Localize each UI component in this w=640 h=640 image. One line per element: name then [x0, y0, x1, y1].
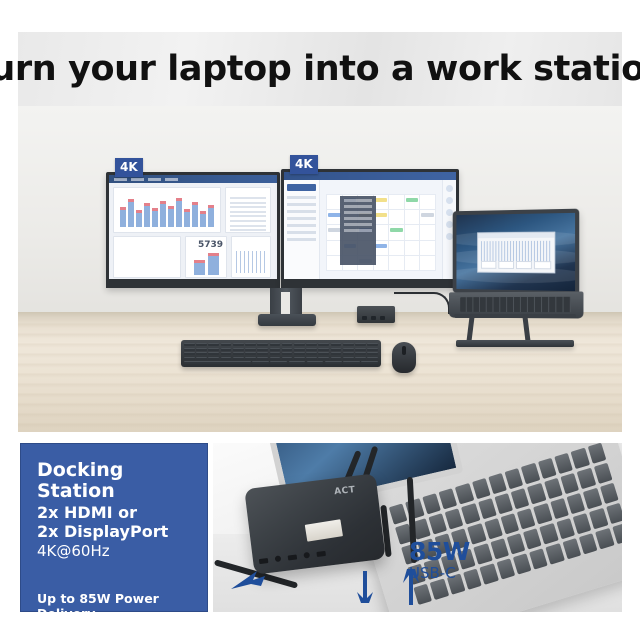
key	[494, 493, 513, 514]
overlay-row	[344, 211, 372, 214]
key	[294, 352, 305, 355]
bar	[128, 202, 134, 227]
bar	[176, 201, 182, 227]
calendar-event	[375, 244, 388, 248]
key	[306, 357, 317, 360]
monitor-right-screen	[284, 172, 456, 279]
key	[533, 503, 552, 524]
key	[595, 528, 614, 549]
spec-panel: Docking Station 2x HDMI or 2x DisplayPor…	[20, 443, 208, 612]
sidebar-item	[287, 231, 316, 234]
key	[587, 443, 606, 464]
calendar-main	[320, 180, 442, 279]
hero-photo-workstation: 5739	[18, 106, 622, 432]
toolbar-item	[165, 178, 178, 181]
key	[221, 357, 232, 360]
page-title: Turn your laptop into a work station	[0, 49, 640, 89]
overlay-row	[344, 199, 372, 202]
key	[294, 357, 305, 360]
monitor-stand-gap	[281, 292, 290, 314]
key	[270, 361, 287, 364]
key	[184, 343, 195, 346]
key	[367, 348, 378, 351]
key	[355, 348, 366, 351]
calendar-cell	[405, 225, 420, 239]
overlay-row	[344, 229, 372, 232]
monitor-right	[281, 169, 459, 288]
calendar-app	[284, 172, 456, 279]
keyboard-row	[184, 361, 378, 364]
key	[507, 533, 526, 554]
key	[233, 357, 244, 360]
key	[331, 357, 342, 360]
key	[208, 352, 219, 355]
bar	[144, 206, 150, 227]
key	[554, 453, 573, 474]
bar	[168, 209, 174, 227]
toolbar-item	[131, 178, 144, 181]
key	[579, 533, 598, 554]
sidebar-item	[287, 210, 316, 213]
key	[538, 458, 557, 479]
key	[517, 508, 536, 529]
calendar-event	[375, 198, 388, 202]
key	[318, 343, 329, 346]
key	[562, 538, 581, 559]
usb-port-icon	[316, 550, 326, 556]
laptop-screen-assembly	[453, 209, 580, 296]
key	[318, 357, 329, 360]
key	[221, 352, 232, 355]
bar	[192, 205, 198, 227]
mini-bar	[208, 253, 219, 275]
dashboard-body: 5739	[109, 183, 277, 273]
keyboard-row	[184, 357, 378, 360]
key	[343, 343, 354, 346]
list-row	[230, 202, 266, 204]
sidebar-item	[287, 217, 316, 220]
key	[343, 348, 354, 351]
calendar-cell	[389, 225, 404, 239]
4k-badge-right-monitor: 4K	[290, 155, 318, 174]
key	[196, 348, 207, 351]
key	[445, 508, 464, 529]
sidebar-item	[287, 224, 316, 227]
keyboard	[181, 340, 381, 367]
key	[461, 503, 480, 524]
key	[318, 348, 329, 351]
bar	[200, 214, 206, 227]
rail-icon	[446, 197, 453, 204]
key	[257, 343, 268, 346]
monitor-left-screen: 5739	[109, 175, 277, 279]
key	[567, 493, 586, 514]
dock-port	[380, 316, 385, 320]
key	[196, 357, 207, 360]
dock-cable	[394, 292, 450, 314]
spec-title: Docking Station	[37, 460, 193, 503]
key	[600, 483, 619, 504]
window-titlebar	[478, 233, 554, 239]
key	[589, 508, 608, 529]
key	[560, 473, 579, 494]
bar	[136, 213, 142, 227]
key	[257, 348, 268, 351]
calendar-event	[328, 213, 341, 217]
toolbar-item	[114, 178, 127, 181]
key	[496, 558, 515, 579]
list-row	[230, 229, 266, 231]
calendar-cell	[389, 195, 404, 209]
card-kpi: 5739	[185, 236, 227, 278]
key	[484, 518, 503, 539]
key	[472, 478, 491, 499]
key	[478, 498, 497, 519]
key	[389, 503, 408, 524]
key	[282, 357, 293, 360]
key	[550, 498, 569, 519]
key	[527, 483, 546, 504]
calendar-cell	[389, 241, 404, 255]
key	[270, 352, 281, 355]
key	[294, 343, 305, 346]
key	[488, 473, 507, 494]
key	[438, 488, 457, 509]
key	[343, 352, 354, 355]
calendar-event	[328, 228, 341, 232]
key	[606, 503, 622, 524]
card-donut-chart	[113, 236, 181, 278]
riser-leg	[466, 316, 474, 342]
key	[546, 543, 565, 564]
calendar-cell	[389, 256, 404, 270]
calendar-cell	[405, 256, 420, 270]
keyboard-row	[184, 348, 378, 351]
sidebar-item	[287, 203, 316, 206]
bar	[152, 211, 158, 227]
line-chart	[236, 251, 266, 273]
list-row	[230, 225, 266, 227]
list-row	[230, 211, 266, 213]
sidebar-primary-button	[287, 184, 316, 191]
audio-port-icon	[275, 555, 282, 562]
key	[289, 361, 306, 364]
key	[500, 513, 519, 534]
list-row	[230, 206, 266, 208]
calendar-sidebar	[284, 180, 320, 279]
key	[505, 468, 524, 489]
docking-station-closeup: ACT	[244, 473, 385, 574]
key	[196, 352, 207, 355]
power-callout: 85W USB-C	[409, 539, 470, 584]
sidebar-item	[287, 238, 316, 241]
key	[413, 584, 432, 605]
stat-cell	[516, 261, 532, 269]
spec-line-hdmi: 2x HDMI or	[37, 503, 193, 522]
key	[306, 348, 317, 351]
calendar-event	[375, 213, 388, 217]
card-line-chart	[231, 236, 271, 278]
key	[325, 361, 342, 364]
key	[544, 478, 563, 499]
toolbar-item	[148, 178, 161, 181]
key	[367, 352, 378, 355]
key	[257, 357, 268, 360]
rail-icon	[446, 185, 453, 192]
key	[513, 553, 532, 574]
list-row	[230, 220, 266, 222]
key	[355, 352, 366, 355]
spec-line-resolution: 4K@60Hz	[37, 541, 193, 563]
key	[306, 343, 317, 346]
monitor-right-bezel-bottom	[281, 279, 459, 288]
key	[208, 357, 219, 360]
key	[270, 348, 281, 351]
bar	[208, 208, 214, 227]
key	[282, 352, 293, 355]
laptop-keyboard	[460, 297, 571, 312]
4k-badge-left-monitor: 4K	[115, 158, 143, 177]
calendar-cell	[420, 256, 435, 270]
calendar-cell	[405, 195, 420, 209]
key	[221, 343, 232, 346]
laptop-riser-stand	[454, 314, 576, 344]
monitor-left: 5739	[106, 172, 280, 288]
docking-station-on-desk	[357, 306, 395, 323]
dashboard-app: 5739	[109, 175, 277, 279]
keyboard-row	[184, 352, 378, 355]
usb-port-icon	[288, 554, 298, 560]
key	[307, 361, 324, 364]
calendar-cell	[420, 225, 435, 239]
key	[270, 357, 281, 360]
hdmi-port-icon	[259, 558, 269, 564]
key	[428, 513, 447, 534]
riser-leg	[522, 316, 530, 342]
key	[257, 352, 268, 355]
calendar-detail-overlay	[340, 196, 376, 265]
calendar-cell	[420, 241, 435, 255]
key	[367, 343, 378, 346]
dock-port	[362, 316, 367, 320]
key	[355, 343, 366, 346]
key	[571, 448, 590, 469]
card-list	[225, 187, 271, 233]
key	[583, 488, 602, 509]
calendar-event	[390, 228, 403, 232]
key	[473, 543, 492, 564]
key	[540, 523, 559, 544]
key	[577, 468, 596, 489]
dock-port	[371, 316, 376, 320]
bar	[184, 212, 190, 227]
key	[184, 361, 251, 364]
key	[331, 343, 342, 346]
stat-cell	[498, 261, 514, 269]
power-connector-type: USB-C	[409, 564, 470, 584]
key	[331, 352, 342, 355]
calendar-cell	[420, 195, 435, 209]
window-line-chart	[481, 241, 551, 263]
key	[490, 538, 509, 559]
list-row	[230, 197, 266, 199]
bar	[120, 210, 126, 227]
key	[196, 343, 207, 346]
power-value: 85W	[409, 539, 470, 564]
key	[233, 343, 244, 346]
key	[184, 352, 195, 355]
key	[367, 357, 378, 360]
key	[455, 483, 474, 504]
bar-chart	[120, 197, 214, 227]
key	[184, 348, 195, 351]
key	[511, 488, 530, 509]
act-brand-logo: ACT	[334, 485, 356, 497]
key	[556, 518, 575, 539]
monitor-stand-base	[258, 314, 316, 326]
window-stat-cells	[481, 261, 551, 269]
calendar-cell	[405, 241, 420, 255]
closeup-photo-docking-station: ACT 85W USB-C	[213, 443, 622, 612]
key	[282, 348, 293, 351]
calendar-event	[406, 198, 419, 202]
spec-power-delivery: Up to 85W Power Delivery	[37, 591, 193, 621]
calendar-cell	[405, 210, 420, 224]
product-marketing-image: Turn your laptop into a work station	[0, 0, 640, 640]
key	[245, 357, 256, 360]
monitor-left-bezel-bottom	[106, 279, 280, 288]
overlay-row	[344, 223, 372, 226]
key	[245, 352, 256, 355]
key	[331, 348, 342, 351]
headline-band: Turn your laptop into a work station	[18, 32, 622, 106]
key	[521, 463, 540, 484]
key	[306, 352, 317, 355]
key	[270, 343, 281, 346]
stat-cell	[534, 261, 551, 269]
overlay-row	[344, 205, 372, 208]
key	[573, 513, 592, 534]
key	[245, 348, 256, 351]
calendar-event	[421, 213, 434, 217]
kpi-value: 5739	[189, 240, 223, 250]
key	[422, 493, 441, 514]
key	[282, 343, 293, 346]
bar	[160, 204, 166, 227]
key	[318, 352, 329, 355]
key	[594, 463, 613, 484]
key	[529, 548, 548, 569]
keyboard-row	[184, 343, 378, 346]
calendar-cell	[420, 210, 435, 224]
key	[208, 343, 219, 346]
dock-port-row	[259, 550, 326, 564]
key	[233, 352, 244, 355]
key	[252, 361, 269, 364]
key	[208, 348, 219, 351]
spec-line-displayport: 2x DisplayPort	[37, 522, 193, 541]
key	[361, 361, 378, 364]
calendar-cell	[389, 210, 404, 224]
sidebar-item	[287, 196, 316, 199]
key	[523, 528, 542, 549]
key	[480, 563, 499, 584]
key	[184, 357, 195, 360]
riser-base	[456, 340, 574, 347]
usb-c-port-icon	[303, 552, 310, 559]
key	[343, 361, 360, 364]
key	[612, 523, 622, 544]
kpi-mini-bars	[189, 253, 223, 275]
card-bar-chart	[113, 187, 221, 233]
key	[343, 357, 354, 360]
key	[355, 357, 366, 360]
laptop-display	[456, 213, 575, 291]
key	[294, 348, 305, 351]
overlay-row	[344, 217, 372, 220]
key	[221, 348, 232, 351]
mini-bar	[194, 260, 205, 275]
key	[467, 523, 486, 544]
list-row	[230, 215, 266, 217]
mouse	[392, 342, 416, 373]
dock-spec-label	[305, 519, 343, 541]
laptop-app-window	[477, 232, 555, 274]
key	[245, 343, 256, 346]
donut-chart	[138, 239, 176, 277]
stat-cell	[481, 261, 497, 269]
key	[233, 348, 244, 351]
list-rows	[230, 197, 266, 234]
